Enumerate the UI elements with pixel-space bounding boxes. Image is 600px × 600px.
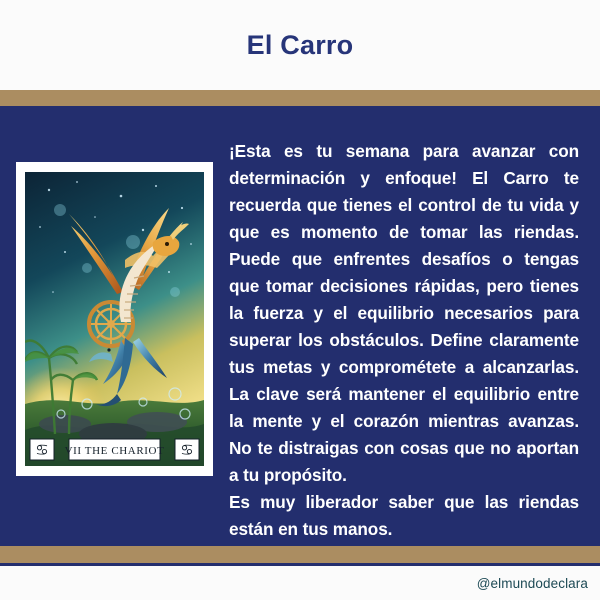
reading-paragraph-1: ¡Esta es tu semana para avanzar con dete… <box>229 138 579 489</box>
tarot-card: ♋ ♋ VII THE CHARIOT <box>16 162 213 476</box>
tarot-card-artwork: ♋ ♋ VII THE CHARIOT <box>25 172 204 466</box>
svg-text:♋: ♋ <box>35 441 48 459</box>
header: El Carro <box>0 0 600 90</box>
gold-divider-top <box>0 90 600 106</box>
social-handle[interactable]: @elmundodeclara <box>477 576 600 591</box>
footer: @elmundodeclara <box>0 566 600 600</box>
svg-text:♋: ♋ <box>180 441 193 459</box>
page-title: El Carro <box>247 32 354 59</box>
svg-text:VII THE CHARIOT: VII THE CHARIOT <box>65 445 165 457</box>
reading-paragraph-2: Es muy liberador saber que las riendas e… <box>229 489 579 543</box>
gold-divider-bottom <box>0 546 600 563</box>
tarot-weekly-poster: El Carro <box>0 0 600 600</box>
reading-text: ¡Esta es tu semana para avanzar con dete… <box>229 138 579 543</box>
